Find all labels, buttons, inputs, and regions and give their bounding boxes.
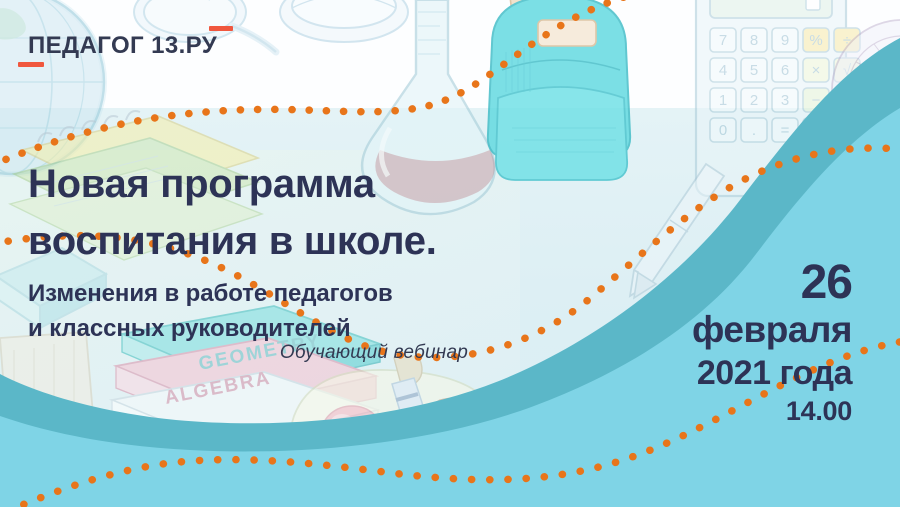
subheadline-line-2: и классных руководителей (28, 311, 548, 346)
event-month: февраля (692, 308, 852, 352)
subheadline-block: Изменения в работе педагогов и классных … (28, 276, 548, 346)
event-time: 14.00 (692, 394, 852, 428)
headline-line-1: Новая программа (28, 156, 548, 213)
webinar-promo-banner: 789 %÷ 456 ×√ 123 − 0.= + (0, 0, 900, 507)
brand-logo[interactable]: ПЕДАГОГ 13.РУ (28, 34, 217, 58)
logo-accent-dash-left (18, 62, 44, 67)
dotted-path-upper (0, 0, 700, 166)
brand-logo-text: ПЕДАГОГ 13.РУ (28, 34, 217, 58)
event-year: 2021 года (692, 352, 852, 394)
event-day: 26 (692, 258, 852, 308)
headline-line-2: воспитания в школе. (28, 213, 548, 270)
logo-accent-dash-right (209, 26, 233, 31)
event-date-block: 26 февраля 2021 года 14.00 (692, 258, 852, 428)
subheadline-line-1: Изменения в работе педагогов (28, 276, 548, 311)
headline-block: Новая программа воспитания в школе. Изме… (28, 156, 548, 346)
event-format-label: Обучающий вебинар (28, 342, 468, 364)
